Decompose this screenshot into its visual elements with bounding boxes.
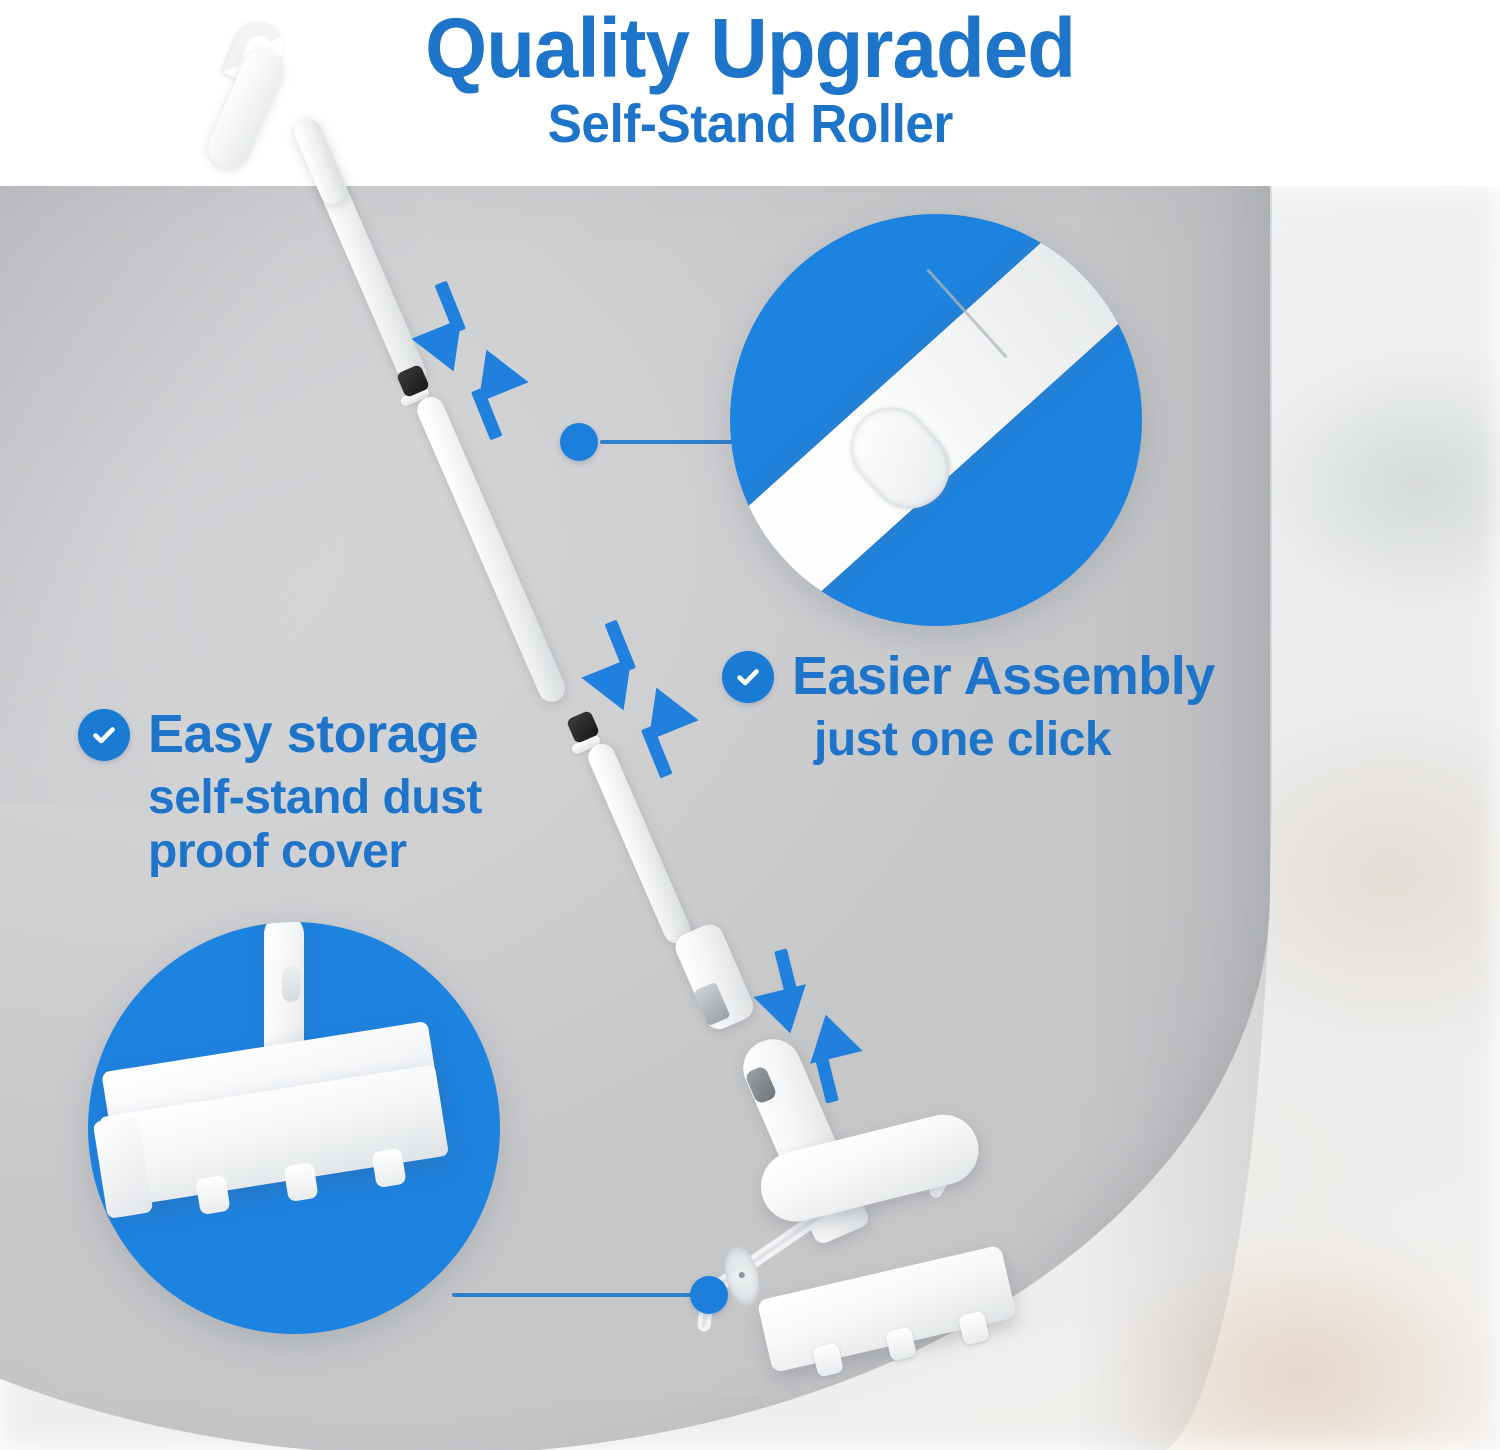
converging-arrows-icon [790,1000,910,1160]
tray-notch [371,1148,406,1188]
tray-notch [283,1162,318,1202]
callout-circle-easier-assembly [730,214,1142,626]
callout-dot-icon [560,423,598,461]
check-circle-icon [722,651,774,703]
feature-subtitle: just one click [814,713,1215,767]
feature-easy-storage: Easy storage self-stand dust proof cover [78,706,482,879]
converging-arrows-icon [452,330,572,490]
feature-easier-assembly: Easier Assembly just one click [722,648,1215,767]
feature-subtitle: self-stand dust [148,771,482,825]
check-circle-icon [78,709,130,761]
tray-notch [195,1175,230,1215]
pole-top-over-header [0,0,1500,186]
feature-title: Easy storage [148,706,478,763]
callout-lead-line-bottom [452,1293,702,1297]
feature-title-row: Easy storage [78,706,482,763]
feature-title: Easier Assembly [792,648,1215,705]
feature-title-row: Easier Assembly [722,648,1215,705]
product-infographic: Easy storage self-stand dust proof cover… [0,0,1500,1450]
handle-grip [202,44,290,175]
callout-dot-icon [690,1276,728,1314]
feature-subtitle-line2: proof cover [148,825,482,879]
pole-closeup-shaft [730,214,1142,611]
callout-circle-easy-storage [88,922,500,1334]
handle-button-closeup [282,966,300,1002]
